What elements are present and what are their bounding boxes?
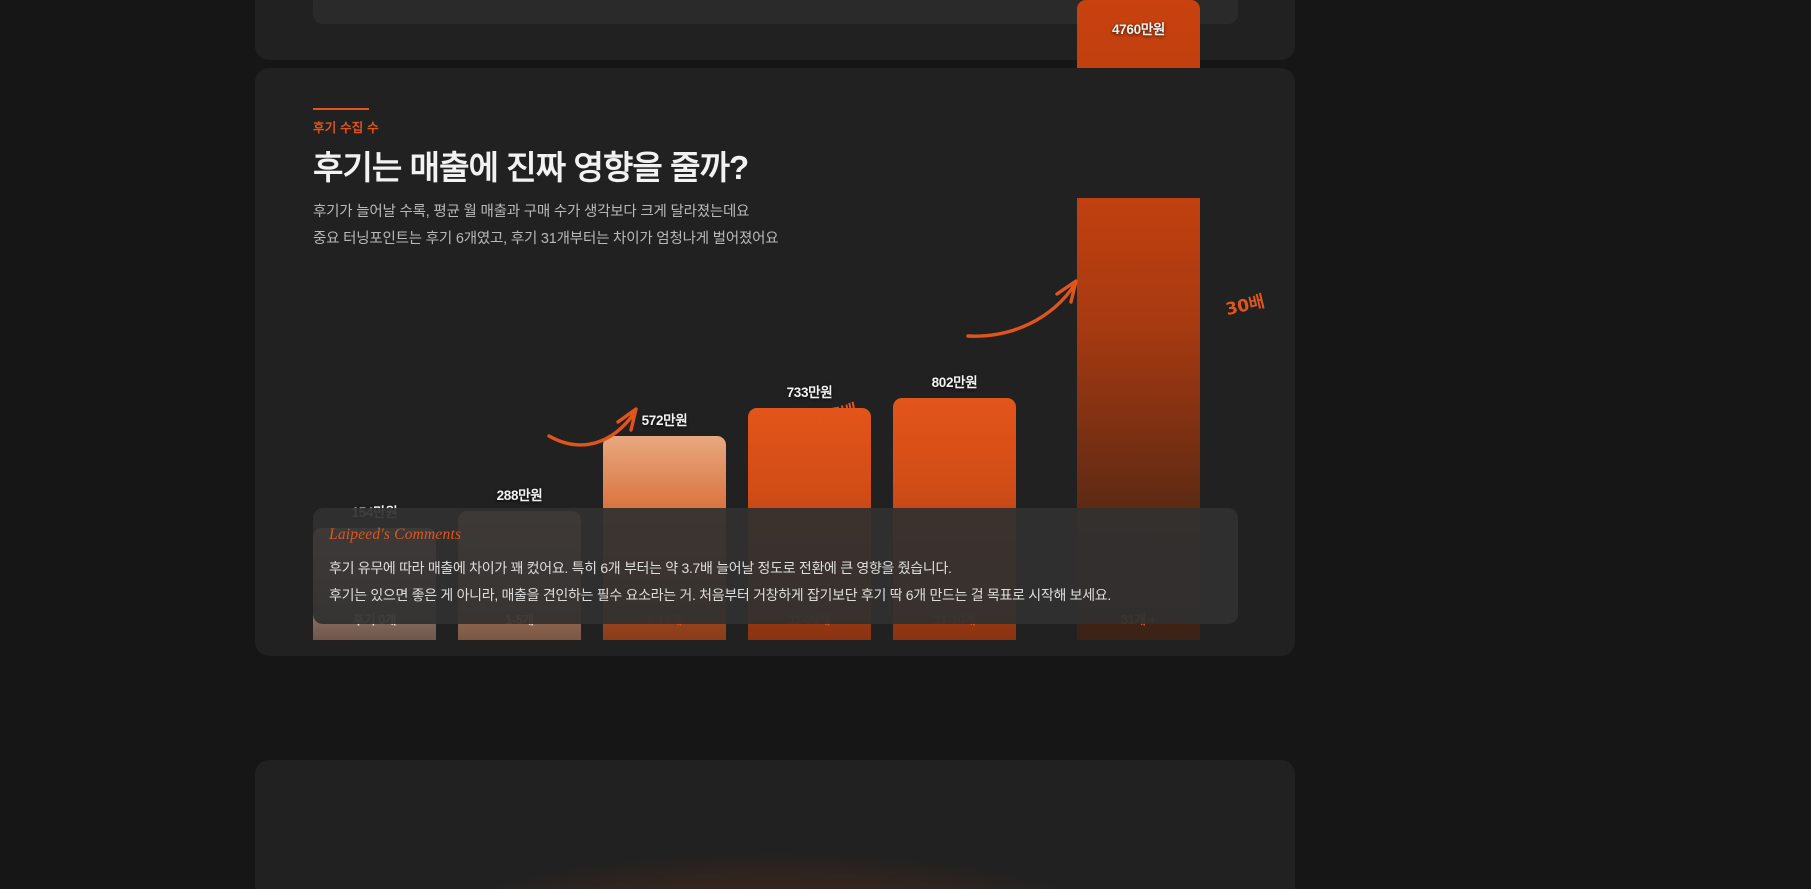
bar-value-4: 802만원 — [932, 371, 978, 391]
bar-value-31plus-top: 4760만원 — [1077, 18, 1200, 38]
next-section-card — [255, 760, 1295, 889]
bar-value-3: 733만원 — [787, 381, 833, 401]
comments-line-2: 후기는 있으면 좋은 게 아니라, 매출을 견인하는 필수 요소라는 거. 처음… — [329, 582, 1222, 609]
eyebrow-group: 후기 수집 수 — [313, 108, 379, 136]
page-root: 4760만원 후기 수집 수 후기는 매출에 진짜 영향을 줄까? 후기가 늘어… — [0, 0, 1811, 889]
arrow-head-30x — [1057, 281, 1076, 302]
bar-value-2: 572만원 — [642, 409, 688, 429]
next-card-glow — [255, 760, 1295, 889]
annotation-label-30x: 30배 — [1223, 287, 1267, 320]
card-clip-region: 후기 수집 수 후기는 매출에 진짜 영향을 줄까? 후기가 늘어날 수록, 평… — [255, 68, 1295, 656]
comments-panel: Laipeed's Comments 후기 유무에 따라 매출에 차이가 꽤 컸… — [313, 508, 1238, 624]
comments-title: Laipeed's Comments — [329, 526, 1222, 544]
bar-value-1: 288만원 — [497, 484, 543, 504]
eyebrow-label: 후기 수집 수 — [313, 117, 379, 136]
comments-line-1: 후기 유무에 따라 매출에 차이가 꽤 컸어요. 특히 6개 부터는 약 3.7… — [329, 555, 1222, 582]
eyebrow-rule — [313, 108, 369, 110]
arrow-30x — [968, 284, 1075, 336]
page-title: 후기는 매출에 진짜 영향을 줄까? — [313, 141, 748, 189]
review-impact-section-card: 4760만원 후기 수집 수 후기는 매출에 진짜 영향을 줄까? 후기가 늘어… — [255, 68, 1295, 656]
